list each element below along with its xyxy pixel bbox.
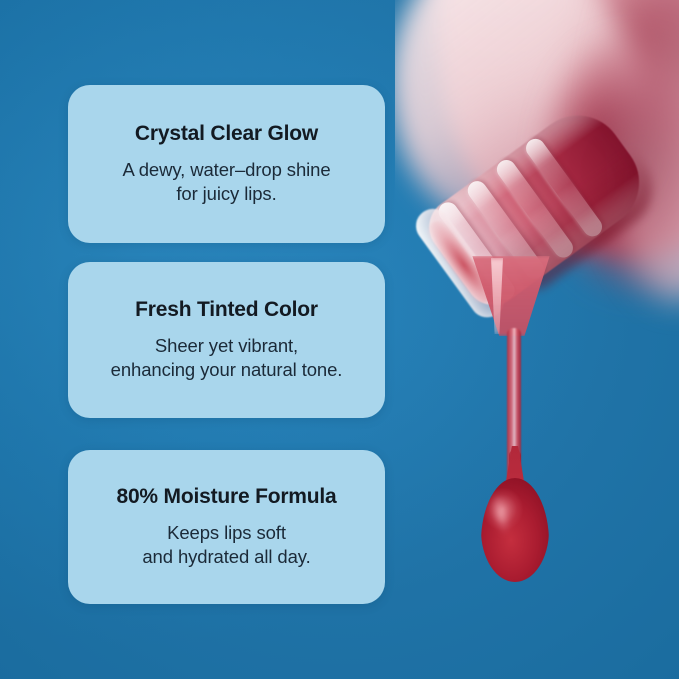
feature-description-line: A dewy, water–drop shine (122, 158, 330, 182)
feature-description-line: and hydrated all day. (142, 545, 310, 569)
feature-description-line: enhancing your natural tone. (111, 358, 343, 382)
feature-description: A dewy, water–drop shine for juicy lips. (122, 158, 330, 206)
feature-title: Fresh Tinted Color (135, 298, 318, 321)
feature-description-line: Sheer yet vibrant, (111, 334, 343, 358)
liquid-droplet-icon (481, 478, 549, 582)
product-feature-graphic: Crystal Clear Glow A dewy, water–drop sh… (0, 0, 679, 679)
feature-card[interactable]: 80% Moisture Formula Keeps lips soft and… (68, 450, 385, 604)
feature-card[interactable]: Crystal Clear Glow A dewy, water–drop sh… (68, 85, 385, 243)
feature-description-line: for juicy lips. (122, 182, 330, 206)
feature-title: Crystal Clear Glow (135, 122, 318, 145)
feature-description-line: Keeps lips soft (142, 521, 310, 545)
feature-description: Keeps lips soft and hydrated all day. (142, 521, 310, 569)
feature-title: 80% Moisture Formula (116, 485, 336, 508)
product-photo (395, 0, 679, 620)
feature-card[interactable]: Fresh Tinted Color Sheer yet vibrant, en… (68, 262, 385, 418)
feature-description: Sheer yet vibrant, enhancing your natura… (111, 334, 343, 382)
